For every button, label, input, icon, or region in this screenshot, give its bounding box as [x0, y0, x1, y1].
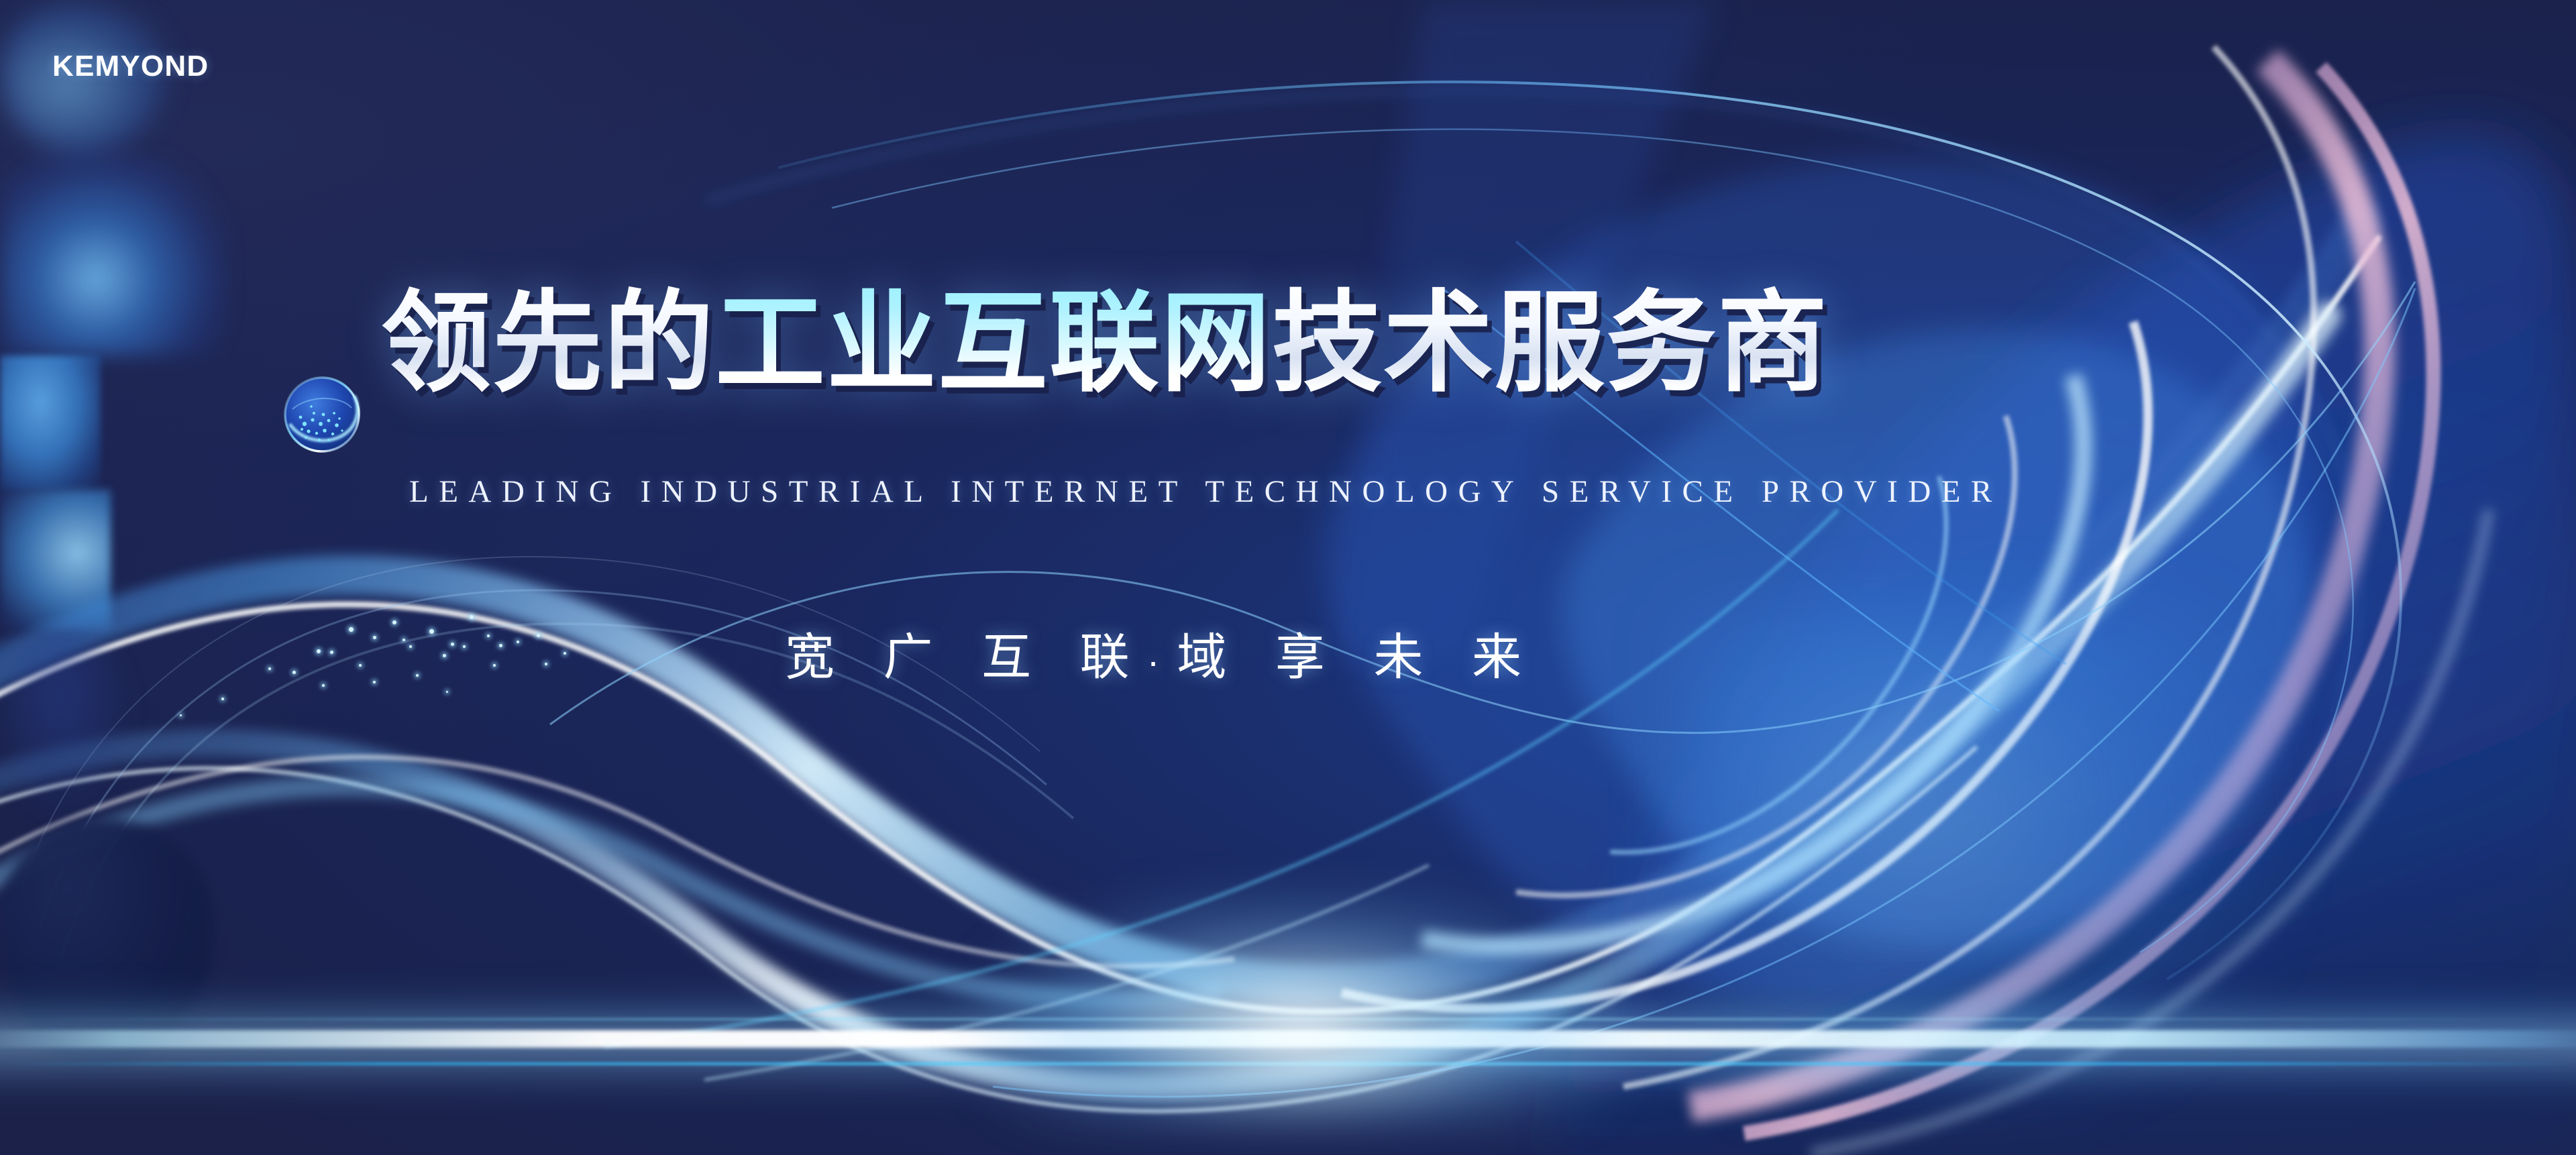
subtitle-english: LEADING INDUSTRIAL INTERNET TECHNOLOGY S… — [409, 474, 2002, 510]
page-title: 领先的工业互联网技术服务商 — [381, 288, 1829, 398]
tagline-separator: · — [1147, 640, 1177, 682]
globe-sphere-icon — [275, 368, 369, 461]
tagline: 宽 广 互 联·域 享 未 来 — [785, 617, 1539, 689]
tagline-right: 域 享 未 来 — [1177, 629, 1539, 685]
hero-copy: 领先的工业互联网技术服务商 LEADING INDUSTRIAL INTERNE… — [0, 0, 2576, 1155]
headline-tail: 技术服务商 — [1272, 282, 1829, 404]
headline-lead: 领先的 — [381, 282, 715, 404]
headline-accent: 工业互联网 — [715, 282, 1272, 404]
banner-canvas: KEMYOND — [0, 0, 2576, 1155]
tagline-left: 宽 广 互 联 — [785, 629, 1147, 685]
